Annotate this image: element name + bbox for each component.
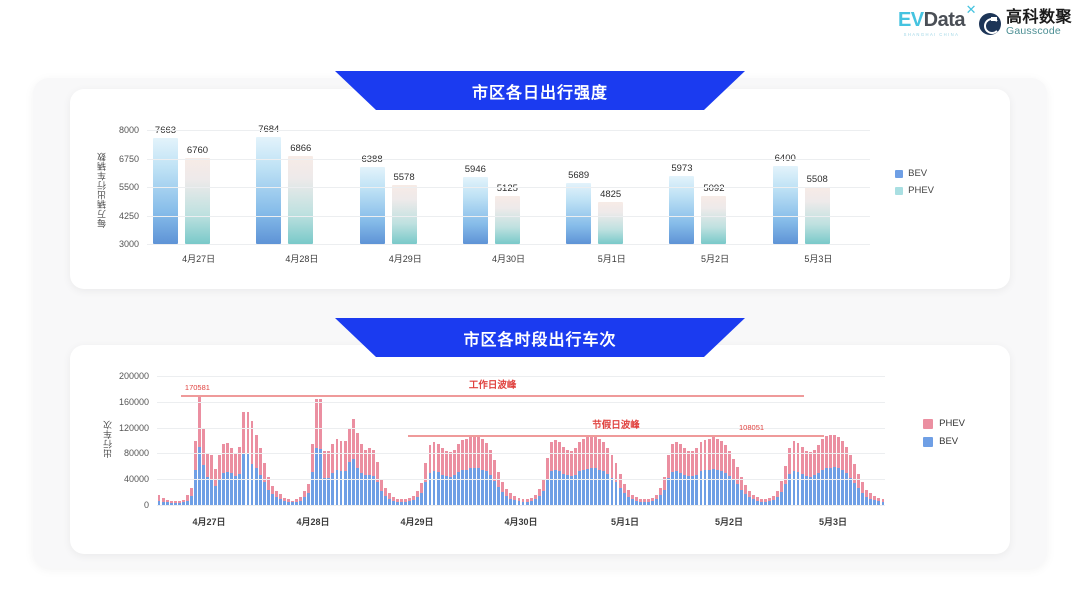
chart2-segment-phev	[627, 490, 630, 497]
chart2-stacked-bar	[194, 441, 197, 506]
chart2-segment-phev	[218, 455, 221, 479]
chart2-segment-phev	[360, 444, 363, 472]
chart2-stacked-bar	[566, 450, 569, 505]
chart2-segment-bev	[663, 490, 666, 505]
chart2-segment-phev	[691, 451, 694, 476]
chart2-segment-phev	[700, 442, 703, 471]
chart2-segment-phev	[311, 444, 314, 472]
chart2-stacked-bar	[865, 490, 868, 505]
chart2-segment-bev	[817, 473, 820, 505]
chart2-segment-bev	[190, 496, 193, 505]
chart2-segment-phev	[829, 435, 832, 467]
chart2-stacked-bar	[748, 491, 751, 505]
chart2-stacked-bar	[453, 450, 456, 505]
chart2-segment-bev	[327, 478, 330, 505]
chart2-annotation-line	[181, 395, 804, 397]
chart2-segment-phev	[331, 444, 334, 473]
chart2-stacked-bar	[473, 435, 476, 505]
chart2-segment-bev	[477, 468, 480, 505]
chart2-segment-phev	[793, 441, 796, 471]
chart2-peak-bar	[319, 399, 322, 505]
chart2-segment-phev	[857, 474, 860, 488]
chart2-segment-bev	[845, 473, 848, 505]
chart2-segment-phev	[704, 440, 707, 470]
chart2-segment-phev	[732, 459, 735, 480]
chart2-stacked-bar	[805, 451, 808, 505]
chart2-segment-phev	[865, 490, 868, 497]
chart2-segment-phev	[238, 447, 241, 474]
chart2-segment-phev	[441, 448, 444, 474]
chart2-peak-bar	[198, 395, 201, 505]
chart2-segment-bev	[776, 497, 779, 505]
chart2-legend-swatch	[923, 437, 933, 447]
chart2-segment-bev	[210, 479, 213, 505]
chart1-gridline	[147, 187, 870, 188]
chart2-x-tick: 5月2日	[715, 515, 743, 528]
chart2-stacked-bar	[364, 450, 367, 505]
chart1-legend-item-bev[interactable]: BEV	[895, 168, 934, 179]
chart2-segment-bev	[420, 493, 423, 505]
chart2-stacked-bar	[602, 442, 605, 505]
chart2-y-tick: 40000	[124, 474, 149, 484]
chart2-segment-bev	[615, 482, 618, 505]
chart2-y-axis-title: 出行车次	[101, 380, 114, 499]
chart2-gridline	[157, 428, 885, 429]
chart2-segment-bev	[493, 481, 496, 506]
chart2-stacked-bar	[186, 495, 189, 505]
chart2-segment-bev	[546, 479, 549, 505]
chart2-stacked-bar	[554, 440, 557, 505]
chart2-segment-phev	[206, 453, 209, 476]
chart2-segment-bev	[602, 471, 605, 505]
chart2-segment-bev	[716, 470, 719, 505]
chart2-stacked-bar	[392, 497, 395, 505]
chart2-stacked-bar	[497, 472, 500, 505]
gausscode-cn-text: 高科数聚	[1006, 10, 1072, 26]
chart2-stacked-bar	[675, 442, 678, 505]
chart2-stacked-bar	[412, 496, 415, 505]
chart1-gridline	[147, 130, 870, 131]
chart2-segment-phev	[214, 469, 217, 486]
chart2-segment-bev	[461, 470, 464, 505]
chart2-stacked-bar	[352, 419, 355, 505]
chart2-segment-bev	[331, 473, 334, 505]
chart2-segment-bev	[336, 470, 339, 505]
chart1-x-tick: 5月2日	[701, 252, 729, 265]
chart2-gridline	[157, 376, 885, 377]
chart2-segment-bev	[437, 472, 440, 505]
chart1-y-tick: 4250	[119, 211, 139, 221]
chart2-stacked-bar	[279, 494, 282, 505]
chart2-legend-item-bev[interactable]: BEV	[923, 436, 965, 447]
chart2-segment-bev	[712, 469, 715, 505]
gausscode-wordmark: 高科数聚 Gausscode	[1006, 10, 1072, 37]
chart2-segment-bev	[307, 493, 310, 505]
chart2-segment-bev	[275, 497, 278, 505]
chart2-segment-bev	[740, 490, 743, 505]
chart2-segment-phev	[594, 436, 597, 468]
chart2-stacked-bar	[829, 435, 832, 505]
chart1-gridline	[147, 244, 870, 245]
hourly-trips-chart: 出行车次 20000016000012000080000400000 4月27日…	[95, 370, 955, 535]
chart2-segment-phev	[384, 488, 387, 496]
chart2-segment-bev	[558, 471, 561, 505]
chart2-segment-phev	[861, 482, 864, 492]
chart2-segment-bev	[793, 471, 796, 505]
chart2-stacked-bar	[255, 435, 258, 505]
chart2-segment-bev	[267, 490, 270, 505]
chart2-segment-phev	[234, 453, 237, 476]
chart2-segment-bev	[554, 470, 557, 505]
chart2-stacked-bar	[303, 491, 306, 505]
chart2-segment-bev	[619, 488, 622, 505]
chart2-stacked-bar	[538, 489, 541, 505]
chart2-segment-bev	[348, 462, 351, 505]
chart1-y-tick: 5500	[119, 182, 139, 192]
chart2-segment-phev	[344, 441, 347, 471]
chart2-stacked-bar	[853, 464, 856, 505]
chart2-segment-bev	[538, 496, 541, 505]
chart2-legend: PHEVBEV	[923, 418, 965, 454]
chart1-value-label: 6866	[290, 143, 311, 154]
chart2-segment-phev	[457, 444, 460, 472]
chart2-segment-phev	[247, 412, 250, 455]
chart2-segment-phev	[554, 440, 557, 470]
chart2-stacked-bar	[784, 466, 787, 505]
chart2-segment-bev	[744, 494, 747, 505]
chart2-stacked-bar	[251, 421, 254, 505]
chart2-stacked-bar	[518, 498, 521, 505]
chart2-segment-phev	[550, 442, 553, 471]
chart2-segment-bev	[829, 468, 832, 505]
chart2-stacked-bar	[582, 439, 585, 505]
chart2-segment-bev	[481, 470, 484, 505]
chart2-segment-bev	[542, 491, 545, 505]
chart2-segment-bev	[416, 497, 419, 505]
chart2-stacked-bar	[420, 483, 423, 505]
chart2-segment-bev	[344, 471, 347, 505]
chart2-stacked-bar	[424, 463, 427, 505]
chart2-stacked-bar	[445, 451, 448, 505]
chart1-y-tick: 6750	[119, 154, 139, 164]
chart1-y-tick: 8000	[119, 125, 139, 135]
chart2-segment-phev	[323, 451, 326, 477]
chart2-segment-bev	[732, 480, 735, 505]
chart2-segment-phev	[825, 436, 828, 468]
chart2-segment-phev	[538, 489, 541, 496]
chart2-segment-bev	[445, 476, 448, 505]
chart2-segment-phev	[611, 455, 614, 478]
chart2-segment-phev	[667, 455, 670, 478]
chart2-stacked-bar	[837, 437, 840, 505]
chart2-x-tick: 4月28日	[296, 515, 329, 528]
chart2-segment-phev	[315, 399, 318, 448]
chart2-segment-bev	[671, 472, 674, 505]
chart2-stacked-bar	[833, 435, 836, 505]
chart2-stacked-bar	[720, 441, 723, 505]
chart2-segment-bev	[429, 473, 432, 505]
chart2-stacked-bar	[368, 448, 371, 505]
chart2-stacked-bar	[691, 451, 694, 505]
chart2-segment-phev	[226, 443, 229, 472]
chart2-stacked-bar	[606, 448, 609, 505]
chart1-bar-bev	[153, 138, 178, 244]
chart2-segment-phev	[683, 448, 686, 474]
chart2-stacked-bar	[756, 497, 759, 505]
chart2-segment-phev	[420, 483, 423, 493]
chart2-segment-bev	[469, 468, 472, 505]
chart2-segment-bev	[724, 473, 727, 505]
chart2-stacked-bar	[821, 439, 824, 505]
chart1-y-axis-title: 每万辆出行车辆数	[95, 136, 108, 244]
chart2-segment-bev	[675, 471, 678, 505]
chart2-segment-phev	[340, 441, 343, 471]
chart1-value-label: 5946	[465, 164, 486, 175]
chart2-stacked-bar	[513, 496, 516, 505]
chart2-stacked-bar	[372, 450, 375, 505]
chart2-stacked-bar	[558, 442, 561, 505]
chart2-stacked-bar	[598, 439, 601, 505]
chart2-segment-phev	[501, 482, 504, 492]
chart2-segment-phev	[797, 443, 800, 472]
chart1-legend-label: PHEV	[908, 185, 934, 196]
chart2-segment-phev	[542, 479, 545, 491]
chart2-stacked-bar	[744, 485, 747, 505]
chart2-segment-phev	[801, 447, 804, 474]
chart2-segment-phev	[259, 448, 262, 474]
chart2-y-tick: 120000	[119, 423, 149, 433]
chart2-segment-bev	[433, 471, 436, 505]
chart2-stacked-bar	[388, 493, 391, 505]
chart2-segment-bev	[497, 487, 500, 505]
chart2-stacked-bar	[716, 439, 719, 505]
chart2-segment-phev	[853, 464, 856, 483]
chart2-segment-phev	[449, 452, 452, 477]
chart2-x-tick: 4月27日	[192, 515, 225, 528]
chart2-segment-phev	[788, 448, 791, 474]
chart2-segment-bev	[704, 470, 707, 505]
chart2-segment-phev	[619, 474, 622, 488]
chart2-stacked-bar	[683, 448, 686, 505]
chart2-stacked-bar	[271, 486, 274, 505]
chart1-value-label: 5092	[703, 183, 724, 194]
chart2-stacked-bar	[275, 491, 278, 505]
chart2-gridline	[157, 402, 885, 403]
chart2-stacked-bar	[469, 437, 472, 505]
chart2-segment-bev	[198, 447, 201, 505]
chart2-segment-bev	[849, 478, 852, 505]
chart2-legend-swatch	[923, 419, 933, 429]
chart2-segment-bev	[485, 471, 488, 505]
chart1-legend-label: BEV	[908, 168, 927, 179]
chart1-legend: BEVPHEV	[895, 168, 934, 202]
chart2-segment-phev	[784, 466, 787, 484]
chart2-legend-item-phev[interactable]: PHEV	[923, 418, 965, 429]
chart2-stacked-bar	[299, 497, 302, 505]
chart2-stacked-bar	[158, 495, 161, 505]
chart2-stacked-bar	[736, 467, 739, 505]
chart2-stacked-bar	[627, 490, 630, 505]
chart2-segment-phev	[429, 445, 432, 473]
chart2-segment-bev	[833, 467, 836, 505]
evdata-ev-text: EV	[898, 9, 924, 31]
chart1-value-label: 5578	[393, 172, 414, 183]
chart2-segment-phev	[505, 489, 508, 496]
chart1-bar-phev	[495, 196, 520, 244]
chart2-stacked-bar	[477, 437, 480, 505]
gausscode-g-icon	[979, 13, 1001, 35]
chart2-stacked-bar	[570, 451, 573, 505]
chart2-stacked-bar	[704, 440, 707, 505]
chart2-stacked-bar	[315, 399, 318, 505]
chart2-segment-phev	[590, 436, 593, 468]
chart1-gridline	[147, 159, 870, 160]
chart2-stacked-bar	[623, 484, 626, 505]
chart2-stacked-bar	[635, 497, 638, 505]
chart2-stacked-bar	[380, 479, 383, 505]
chart2-segment-phev	[562, 447, 565, 474]
chart2-stacked-bar	[659, 488, 662, 505]
chart2-segment-phev	[473, 435, 476, 467]
chart2-stacked-bar	[578, 442, 581, 505]
chart2-segment-phev	[356, 433, 359, 468]
chart2-annotation-line	[408, 435, 825, 437]
chart2-stacked-bar	[226, 443, 229, 505]
chart2-stacked-bar	[655, 495, 658, 505]
chart2-segment-bev	[857, 488, 860, 505]
chart2-segment-phev	[805, 451, 808, 476]
chart2-segment-phev	[493, 460, 496, 481]
hourly-trips-title-ribbon: 市区各时段出行车次	[335, 318, 745, 357]
chart2-segment-bev	[865, 497, 868, 505]
chart2-segment-bev	[352, 459, 355, 505]
chart2-stacked-bar	[687, 451, 690, 505]
chart2-segment-phev	[833, 435, 836, 467]
chart2-segment-phev	[849, 455, 852, 478]
chart2-segment-bev	[728, 476, 731, 505]
chart1-value-label: 5508	[807, 174, 828, 185]
chart2-segment-phev	[659, 488, 662, 496]
chart2-annotation-label: 工作日波峰	[469, 377, 517, 391]
chart2-segment-phev	[461, 440, 464, 470]
chart2-segment-bev	[376, 482, 379, 505]
chart2-segment-bev	[708, 470, 711, 505]
chart2-segment-bev	[611, 478, 614, 505]
chart1-bar-bev	[360, 167, 385, 244]
chart2-segment-phev	[437, 444, 440, 472]
chart2-stacked-bar	[740, 477, 743, 505]
chart2-x-tick: 4月30日	[504, 515, 537, 528]
chart2-segment-bev	[720, 471, 723, 505]
chart1-x-tick: 5月3日	[804, 252, 832, 265]
chart2-stacked-bar	[841, 441, 844, 505]
chart2-segment-bev	[424, 482, 427, 505]
chart2-segment-bev	[449, 477, 452, 505]
chart2-segment-bev	[594, 468, 597, 505]
chart2-stacked-bar	[530, 498, 533, 505]
chart2-segment-bev	[501, 492, 504, 505]
chart2-stacked-bar	[465, 439, 468, 505]
chart1-x-tick: 4月30日	[492, 252, 525, 265]
chart2-stacked-bar	[772, 496, 775, 505]
chart2-segment-bev	[627, 497, 630, 505]
chart2-stacked-bar	[813, 450, 816, 505]
chart2-stacked-bar	[631, 495, 634, 505]
chart2-stacked-bar	[376, 462, 379, 505]
chart2-stacked-bar	[590, 436, 593, 505]
chart2-stacked-bar	[586, 437, 589, 505]
chart2-stacked-bar	[797, 443, 800, 505]
chart2-stacked-bar	[340, 441, 343, 506]
logo-bar: EVData✕ SHANGHAI CHINA 高科数聚 Gausscode	[898, 10, 1072, 37]
chart2-segment-bev	[582, 470, 585, 505]
chart2-segment-bev	[323, 478, 326, 505]
chart2-segment-phev	[671, 444, 674, 472]
chart2-segment-bev	[700, 471, 703, 505]
chart2-segment-phev	[546, 458, 549, 479]
chart1-bar-phev	[185, 158, 210, 244]
chart2-legend-label: PHEV	[939, 418, 965, 429]
chart2-stacked-bar	[873, 496, 876, 505]
chart2-stacked-bar	[700, 442, 703, 505]
chart2-stacked-bar	[562, 447, 565, 505]
chart2-stacked-bar	[408, 498, 411, 505]
chart2-legend-label: BEV	[939, 436, 958, 447]
chart2-segment-bev	[825, 468, 828, 505]
chart2-stacked-bar	[534, 495, 537, 505]
chart2-y-tick: 160000	[119, 397, 149, 407]
chart2-y-tick: 0	[144, 500, 149, 510]
chart2-stacked-bar	[433, 442, 436, 505]
chart2-segment-bev	[841, 470, 844, 505]
chart2-stacked-bar	[162, 498, 165, 505]
chart2-x-tick: 5月1日	[611, 515, 639, 528]
chart2-stacked-bar	[594, 436, 597, 505]
chart2-stacked-bar	[214, 469, 217, 505]
chart2-stacked-bar	[259, 448, 262, 505]
chart2-stacked-bar	[615, 463, 618, 505]
chart2-segment-bev	[679, 473, 682, 505]
chart2-stacked-bar	[574, 448, 577, 505]
chart1-x-tick: 4月29日	[389, 252, 422, 265]
chart2-stacked-bar	[242, 412, 245, 505]
chart2-segment-phev	[485, 443, 488, 471]
daily-intensity-title-ribbon: 市区各日出行强度	[335, 71, 745, 110]
chart2-stacked-bar	[801, 447, 804, 505]
chart2-stacked-bar	[728, 451, 731, 505]
chart2-stacked-bar	[230, 448, 233, 505]
chart2-stacked-bar	[663, 477, 666, 505]
chart2-stacked-bar	[869, 493, 872, 505]
chart2-peak-value: 108051	[739, 423, 764, 432]
chart1-bar-bev	[566, 183, 591, 244]
chart1-legend-item-phev[interactable]: PHEV	[895, 185, 934, 196]
daily-intensity-chart: 每万辆出行车辆数 80006750550042503000 7663676076…	[95, 122, 930, 270]
chart2-stacked-bar	[780, 481, 783, 505]
chart2-segment-bev	[234, 476, 237, 505]
chart2-segment-phev	[687, 451, 690, 476]
chart1-bar-phev	[598, 202, 623, 244]
chart2-peak-value: 170581	[185, 383, 210, 392]
chart2-stacked-bar	[861, 482, 864, 505]
chart2-segment-bev	[319, 449, 322, 505]
chart2-stacked-bar	[344, 441, 347, 505]
chart2-annotation-label: 节假日波峰	[592, 417, 640, 431]
chart2-segment-bev	[861, 493, 864, 505]
chart2-stacked-bar	[348, 428, 351, 505]
chart2-segment-phev	[578, 442, 581, 471]
chart2-segment-bev	[687, 476, 690, 505]
